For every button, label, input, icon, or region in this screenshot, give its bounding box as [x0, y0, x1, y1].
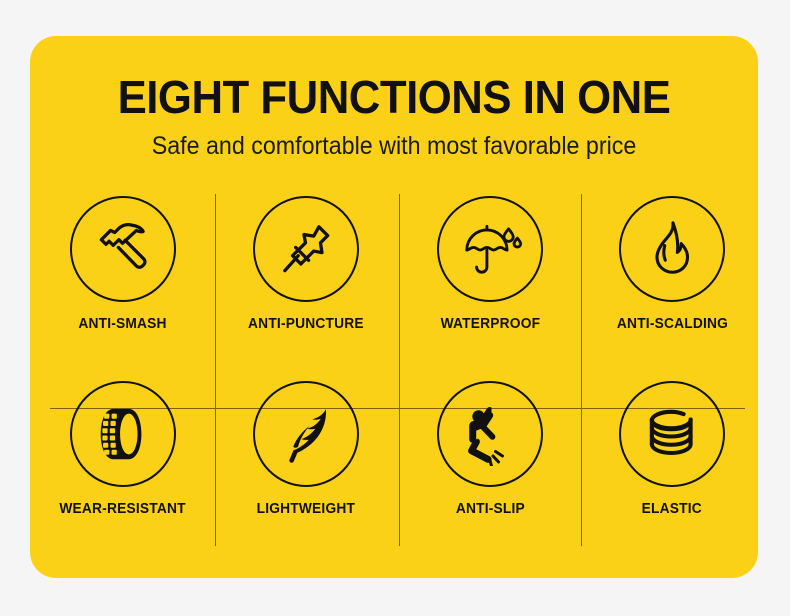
page-subtitle: Safe and comfortable with most favorable…: [55, 134, 732, 159]
feature-item-anti-smash[interactable]: ANTI-SMASH: [32, 186, 214, 371]
icon-circle: [70, 196, 176, 302]
feature-label: WEAR-RESISTANT: [60, 501, 186, 517]
push-pin-icon: [273, 216, 339, 282]
page-title: EIGHT FUNCTIONS IN ONE: [48, 74, 740, 120]
feature-item-anti-slip[interactable]: ANTI-SLIP: [399, 371, 581, 556]
feature-label: ELASTIC: [642, 501, 702, 517]
feature-label: ANTI-SCALDING: [616, 316, 727, 332]
feature-label: ANTI-SLIP: [455, 501, 524, 517]
feature-label: ANTI-PUNCTURE: [248, 316, 364, 332]
icon-circle: [437, 381, 543, 487]
tire-icon: [92, 403, 154, 465]
icon-circle: [253, 381, 359, 487]
feature-item-elastic[interactable]: ELASTIC: [581, 371, 763, 556]
feature-grid: ANTI-SMASH ANTI-PUNCTURE: [30, 186, 758, 556]
feature-item-anti-scalding[interactable]: ANTI-SCALDING: [581, 186, 763, 371]
slip-person-icon: [458, 402, 522, 466]
coil-spring-icon: [641, 403, 703, 465]
icon-circle: [70, 381, 176, 487]
feature-label: ANTI-SMASH: [79, 316, 167, 332]
feature-item-anti-puncture[interactable]: ANTI-PUNCTURE: [215, 186, 397, 371]
umbrella-rain-icon: [457, 216, 523, 282]
icon-circle: [619, 381, 725, 487]
feather-icon: [274, 402, 338, 466]
feature-label: LIGHTWEIGHT: [257, 501, 356, 517]
feature-card: EIGHT FUNCTIONS IN ONE Safe and comforta…: [30, 36, 758, 578]
feature-item-wear-resistant[interactable]: WEAR-RESISTANT: [32, 371, 214, 556]
flame-icon: [641, 218, 703, 280]
feature-label: WATERPROOF: [440, 316, 540, 332]
icon-circle: [619, 196, 725, 302]
poster-stage: EIGHT FUNCTIONS IN ONE Safe and comforta…: [0, 0, 790, 616]
icon-circle: [437, 196, 543, 302]
icon-circle: [253, 196, 359, 302]
feature-item-waterproof[interactable]: WATERPROOF: [399, 186, 581, 371]
hammer-icon: [90, 216, 156, 282]
feature-item-lightweight[interactable]: LIGHTWEIGHT: [215, 371, 397, 556]
